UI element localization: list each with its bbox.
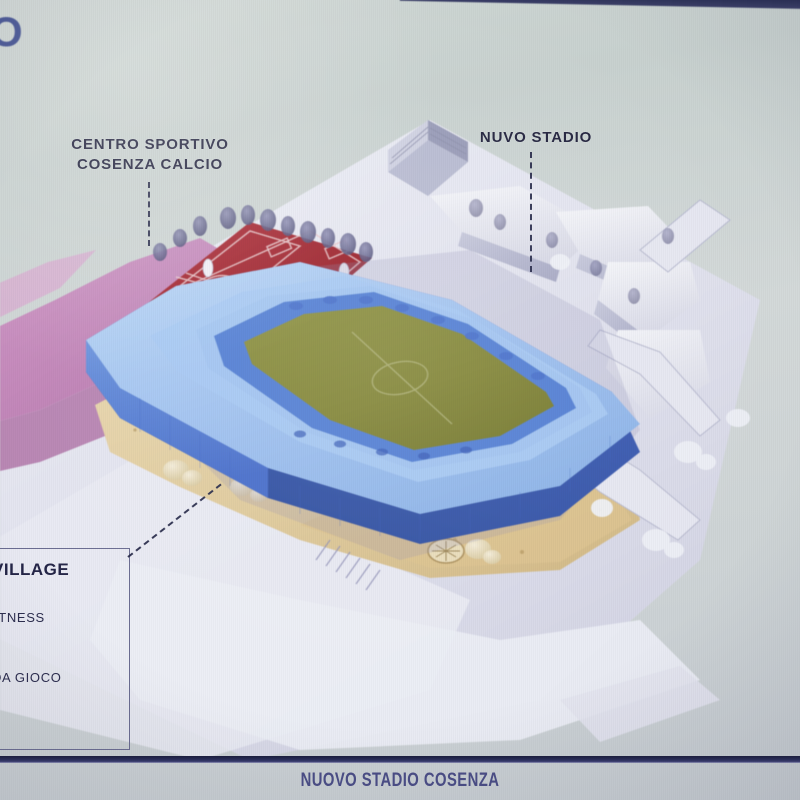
footer-divider bbox=[0, 756, 800, 763]
screen-top-edge-band bbox=[0, 0, 800, 26]
footer-project-title: NUOVO STADIO COSENZA bbox=[88, 770, 712, 792]
presentation-screen-photo: O CENTRO SPORTIVO COSENZA CALCIO NUVO ST… bbox=[0, 0, 800, 800]
leader-nuovo-stadio bbox=[530, 152, 532, 272]
callout-item-fitness: ITNESS bbox=[0, 610, 45, 625]
label-centro-sportivo: CENTRO SPORTIVO COSENZA CALCIO bbox=[60, 135, 240, 176]
callout-title: VILLAGE bbox=[0, 560, 69, 580]
label-nuovo-stadio: NUVO STADIO bbox=[466, 128, 606, 148]
leader-centro-sportivo bbox=[148, 182, 150, 246]
callout-item-campi-da-gioco: DA GIOCO bbox=[0, 670, 62, 685]
